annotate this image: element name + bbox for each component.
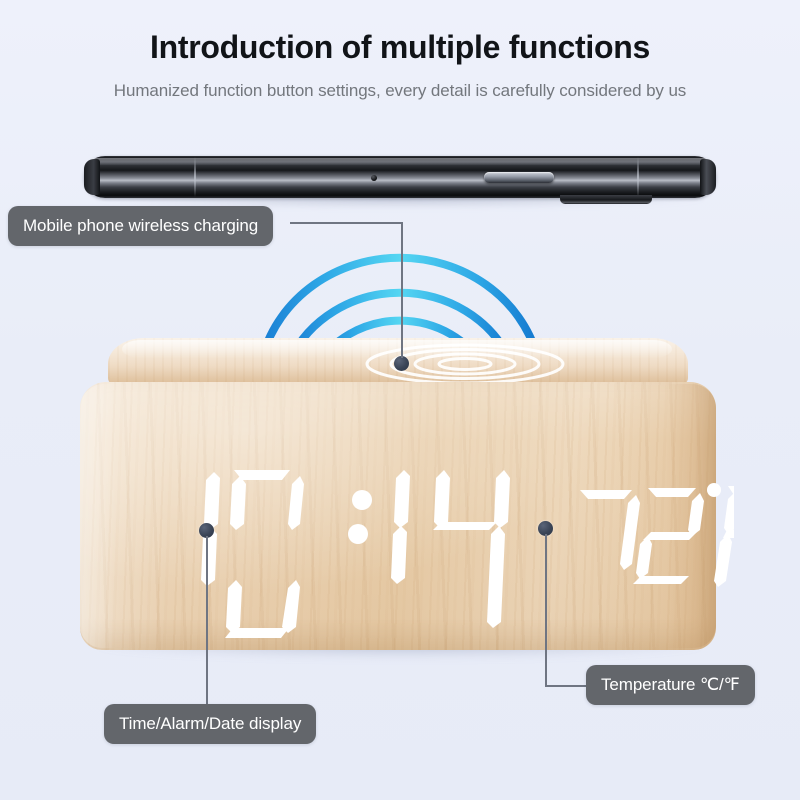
callout-dot-wireless-charging <box>394 356 409 371</box>
clock-left-edge-highlight <box>80 384 116 648</box>
clock-front-face <box>80 382 716 650</box>
camera-bump <box>560 195 652 204</box>
clock-right-edge-shading <box>666 384 716 648</box>
microphone-hole-icon <box>371 175 377 181</box>
leader-line-wireless-charging-vertical <box>401 222 403 358</box>
page-header: Introduction of multiple functions Human… <box>0 0 800 102</box>
phone-antenna-seam-right <box>637 157 639 197</box>
callout-label-time-display[interactable]: Time/Alarm/Date display <box>104 704 316 744</box>
phone-right-end <box>700 159 716 195</box>
page-subtitle: Humanized function button settings, ever… <box>0 81 800 101</box>
phone-antenna-seam-left <box>194 157 196 197</box>
leader-line-time-display <box>206 536 208 706</box>
wooden-alarm-clock <box>62 338 734 658</box>
leader-line-wireless-charging-horizontal <box>290 222 403 224</box>
leader-line-temperature-vertical <box>545 534 547 686</box>
page-title: Introduction of multiple functions <box>0 30 800 65</box>
callout-label-temperature[interactable]: Temperature ℃/℉ <box>586 665 755 705</box>
phone-top-rim <box>90 158 710 165</box>
smartphone-edge-view <box>84 150 716 208</box>
charging-coil-ripples-icon <box>360 340 570 384</box>
phone-left-end <box>84 159 100 195</box>
callout-label-wireless-charging[interactable]: Mobile phone wireless charging <box>8 206 273 246</box>
power-button[interactable] <box>484 172 554 183</box>
